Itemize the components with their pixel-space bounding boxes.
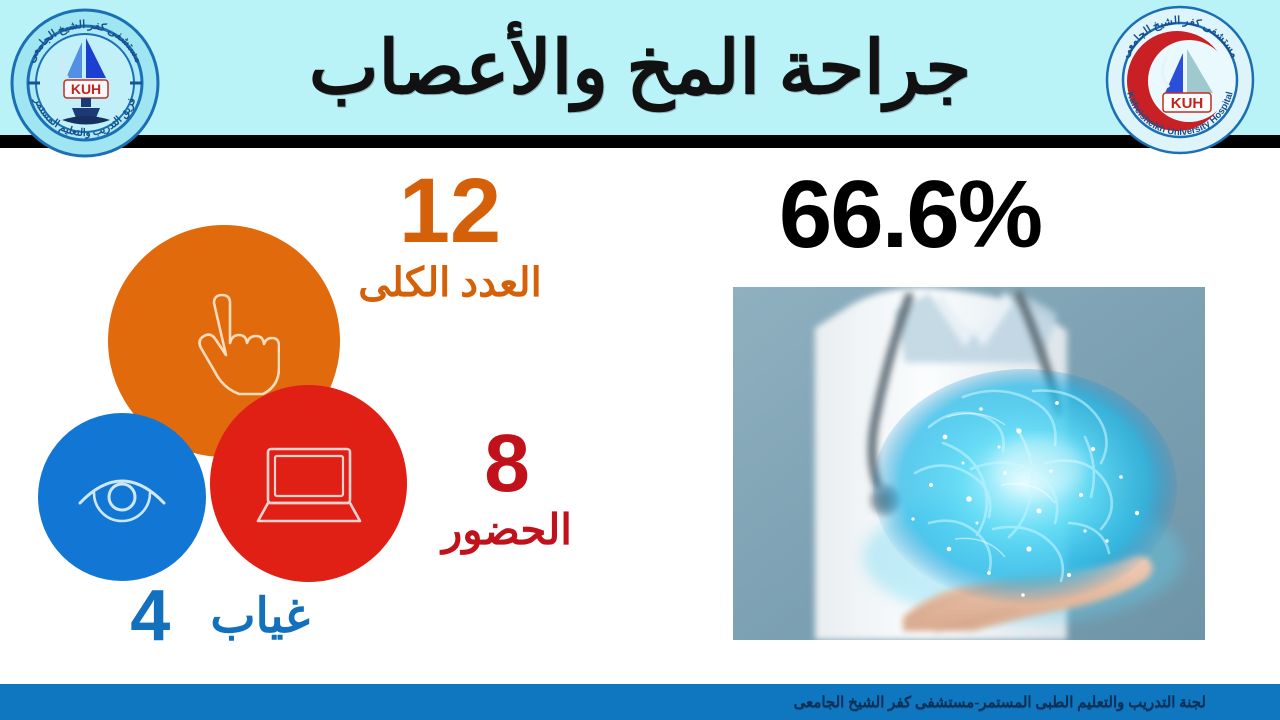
total-stat-block: 12 العدد الكلى	[330, 168, 570, 306]
present-circle	[210, 385, 407, 582]
svg-text:KUH: KUH	[1171, 95, 1204, 112]
kafrelsheikh-university-hospital-logo: KUH مستشفى كفر الشيخ الجامعى Kafrelsheik…	[1105, 5, 1255, 155]
absent-value: 4	[130, 582, 170, 650]
absent-stat-block: غياب 4	[96, 582, 344, 650]
total-value: 12	[330, 168, 570, 255]
absent-label: غياب	[210, 588, 309, 644]
header-divider-band	[0, 135, 1280, 148]
total-label: العدد الكلى	[330, 259, 570, 306]
pointing-hand-icon	[168, 285, 280, 397]
doctor-holding-glowing-brain-photo	[733, 287, 1205, 640]
eye-icon	[70, 445, 174, 549]
present-value: 8	[392, 425, 622, 503]
svg-text:KUH: KUH	[71, 81, 101, 97]
present-stat-block: 8 الحضور	[392, 425, 622, 555]
footer-credit-text: لجنة التدريب والتعليم الطبى المستمر-مستش…	[794, 684, 1206, 720]
laptop-icon	[250, 425, 368, 543]
page-title: جراحة المخ والأعصاب	[0, 2, 1280, 135]
absent-circle	[38, 413, 206, 581]
kuh-training-team-logo: KUH مستشفى كفر الشيخ الجامعى فريق التدري…	[10, 8, 160, 158]
attendance-percentage: 66.6%	[700, 160, 1120, 270]
present-label: الحضور	[392, 505, 622, 555]
